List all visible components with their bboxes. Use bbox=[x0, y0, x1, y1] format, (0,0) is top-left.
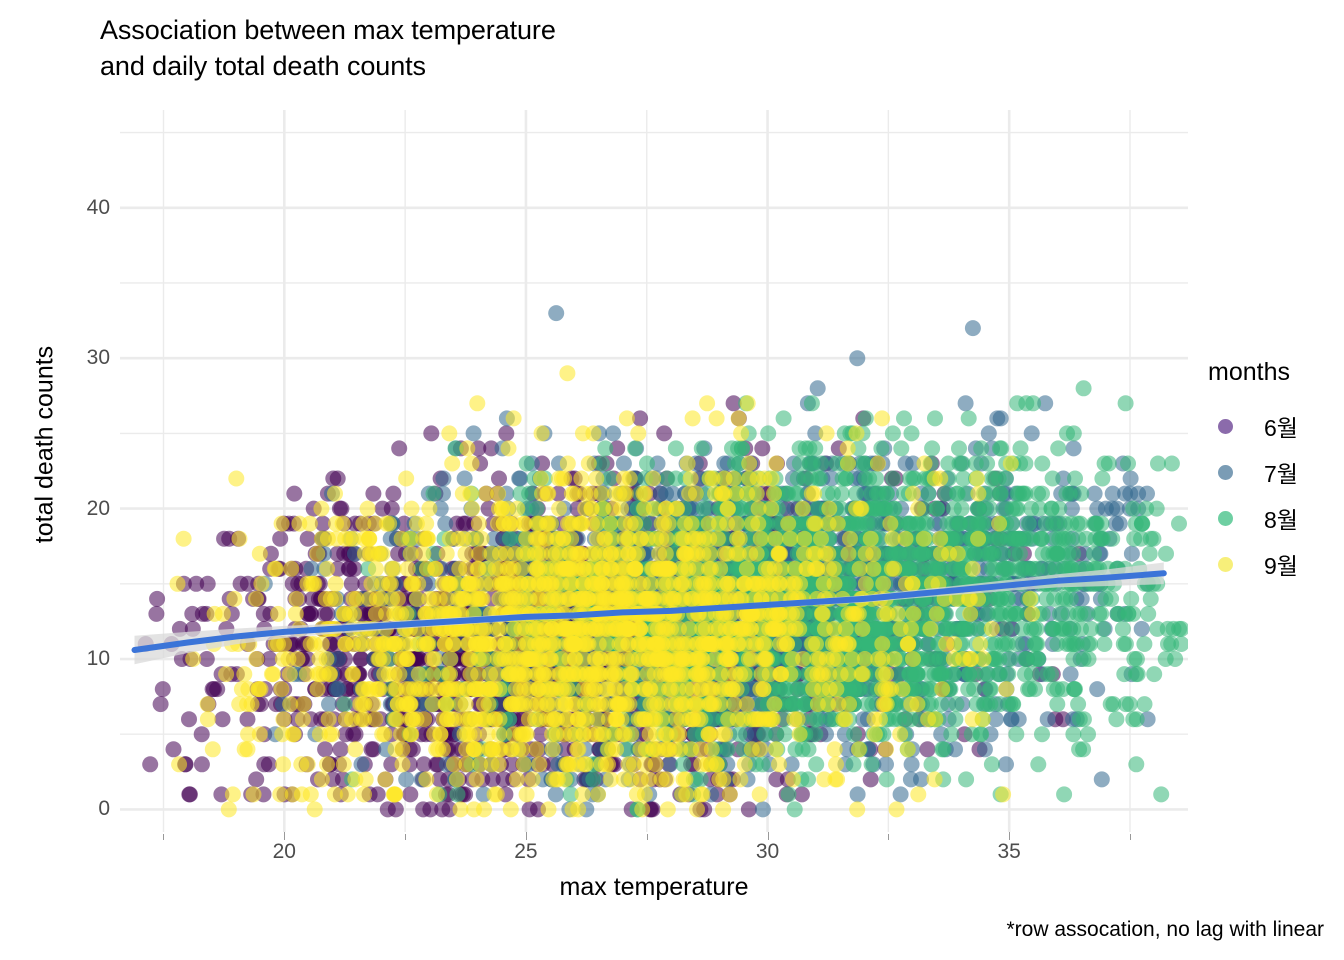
x-axis-ticks: 20253035 bbox=[120, 840, 1188, 870]
page-title: Association between max temperature and … bbox=[100, 12, 1000, 84]
x-minor-tick-mark bbox=[647, 834, 648, 840]
legend: months 6월7월8월9월 bbox=[1208, 358, 1344, 587]
legend-color-dot bbox=[1218, 557, 1233, 572]
legend-key-swatch bbox=[1208, 409, 1242, 443]
legend-key-swatch bbox=[1208, 547, 1242, 581]
scatter-plot-canvas bbox=[120, 110, 1188, 832]
x-minor-tick-mark bbox=[163, 834, 164, 840]
legend-item-label: 9월 bbox=[1264, 547, 1298, 581]
legend-item-6월[interactable]: 6월 bbox=[1208, 403, 1344, 449]
x-axis-title: max temperature bbox=[120, 873, 1188, 902]
legend-item-label: 8월 bbox=[1264, 501, 1298, 535]
legend-item-9월[interactable]: 9월 bbox=[1208, 541, 1344, 587]
scatter-points bbox=[138, 305, 1188, 817]
x-tick-mark bbox=[526, 832, 527, 840]
legend-item-7월[interactable]: 7월 bbox=[1208, 449, 1344, 495]
legend-color-dot bbox=[1218, 511, 1233, 526]
legend-color-dot bbox=[1218, 419, 1233, 434]
x-tick-label: 20 bbox=[244, 840, 324, 864]
legend-key-swatch bbox=[1208, 501, 1242, 535]
x-tick-mark bbox=[284, 832, 285, 840]
x-minor-tick-mark bbox=[1130, 834, 1131, 840]
x-tick-label: 30 bbox=[728, 840, 808, 864]
plot-panel bbox=[120, 110, 1188, 832]
legend-title: months bbox=[1208, 358, 1344, 387]
x-minor-tick-mark bbox=[888, 834, 889, 840]
legend-color-dot bbox=[1218, 465, 1233, 480]
x-minor-tick-mark bbox=[405, 834, 406, 840]
legend-item-8월[interactable]: 8월 bbox=[1208, 495, 1344, 541]
legend-key-swatch bbox=[1208, 455, 1242, 489]
legend-items: 6월7월8월9월 bbox=[1208, 403, 1344, 587]
legend-item-label: 7월 bbox=[1264, 455, 1298, 489]
x-tick-label: 25 bbox=[486, 840, 566, 864]
chart-root: Association between max temperature and … bbox=[0, 0, 1344, 960]
y-axis-title: total death counts bbox=[31, 145, 60, 745]
legend-item-label: 6월 bbox=[1264, 409, 1298, 443]
x-tick-mark bbox=[1009, 832, 1010, 840]
x-tick-label: 35 bbox=[969, 840, 1049, 864]
chart-caption: *row assocation, no lag with linear bbox=[1006, 918, 1324, 942]
x-tick-mark bbox=[768, 832, 769, 840]
y-tick-label: 0 bbox=[50, 797, 110, 821]
